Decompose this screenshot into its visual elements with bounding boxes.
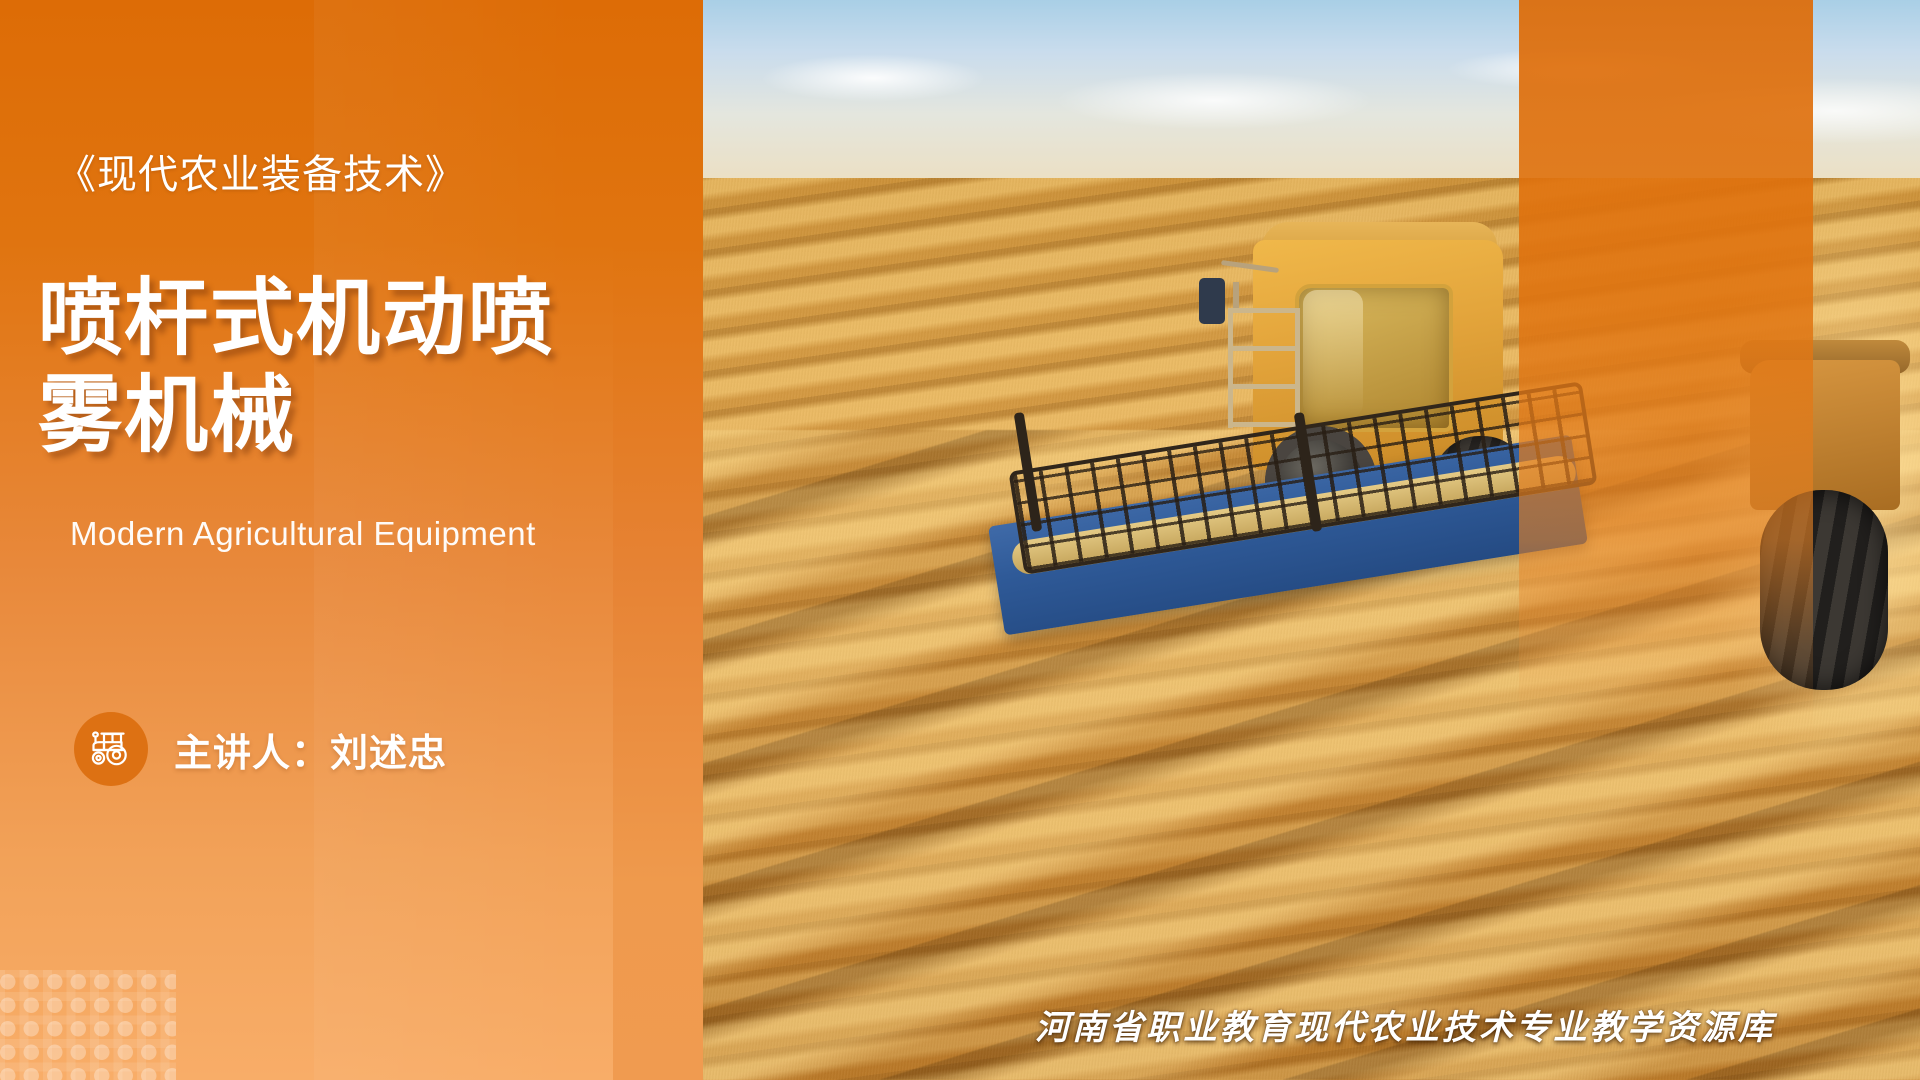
left-panel-accent-band: [613, 0, 703, 1080]
side-mirror: [1199, 278, 1225, 324]
presenter-name: 主讲人：刘述忠: [174, 722, 447, 777]
presenter-badge: [74, 712, 148, 786]
subtitle: Modern Agricultural Equipment: [70, 515, 536, 553]
tractor2-wheel: [1760, 490, 1888, 690]
clouds: [703, 18, 1920, 168]
course-name: 《现代农业装备技术》: [56, 142, 466, 200]
background-photo: [703, 0, 1920, 1080]
cab-glare: [1303, 290, 1363, 418]
title-slide: 《现代农业装备技术》 喷杆式机动喷雾机械 Modern Agricultural…: [0, 0, 1920, 1080]
decorative-dot-grid: [0, 970, 176, 1080]
secondary-tractor: [1740, 300, 1920, 730]
presenter-row: 主讲人：刘述忠: [74, 712, 447, 786]
harvester-ladder: [1228, 308, 1300, 428]
combine-harvester: [1003, 230, 1563, 650]
tractor-icon: [88, 730, 134, 768]
page-title: 喷杆式机动喷雾机械: [38, 270, 618, 465]
tractor2-body: [1750, 360, 1900, 510]
footer-resource-library: 河南省职业教育现代农业技术专业教学资源库: [1035, 1000, 1775, 1049]
